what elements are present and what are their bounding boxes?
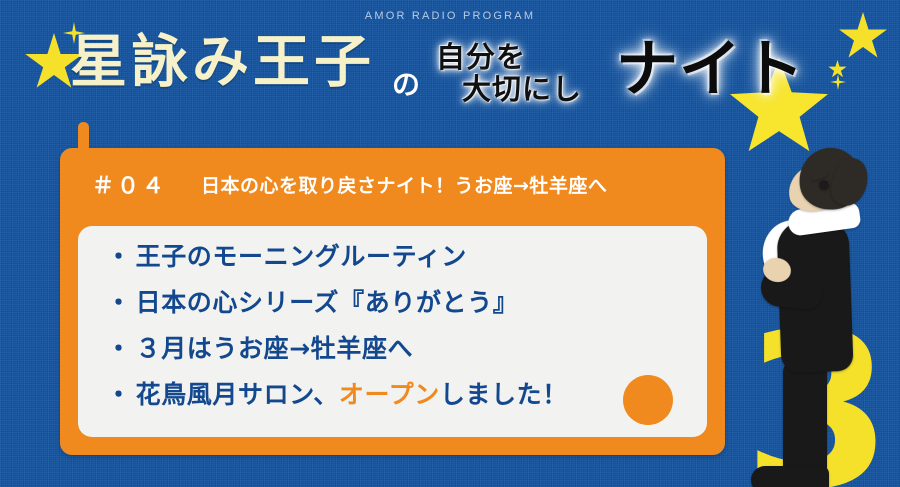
character-shoe (751, 466, 829, 487)
list-item-tail: しました！ (440, 382, 568, 407)
list-item: ・ ３月はうお座→牡羊座へ (106, 336, 687, 361)
title-night: ナイト (616, 38, 805, 100)
episode-title: 日本の心を取り戻さナイト！うお座→牡羊座へ (201, 171, 607, 198)
star-top-right-small-icon (828, 60, 847, 79)
list-item-text: ３月はうお座→牡羊座へ (136, 336, 414, 361)
bullet-marker: ・ (106, 290, 132, 315)
bullet-marker: ・ (106, 244, 132, 269)
subtitle-line-2: 大切にし (462, 66, 582, 108)
episode-card: ＃０４ 日本の心を取り戻さナイト！うお座→牡羊座へ ・ 王子のモーニングルーティ… (60, 148, 725, 455)
poster-canvas: AMOR RADIO PROGRAM 星詠み王子 の 自分を 大切にし ナイト … (0, 0, 900, 487)
episode-header: ＃０４ 日本の心を取り戻さナイト！うお座→牡羊座へ (60, 148, 725, 220)
bullet-marker: ・ (106, 336, 132, 361)
title-connector: の (392, 63, 420, 103)
list-item-text: 日本の心シリーズ『ありがとう』 (136, 290, 519, 315)
character-eye (819, 180, 829, 190)
topics-list: ・ 王子のモーニングルーティン ・ 日本の心シリーズ『ありがとう』 ・ ３月はう… (106, 244, 687, 428)
show-title: 星詠み王子 (70, 34, 375, 91)
host-illustration: 3 (735, 128, 900, 487)
topics-panel: ・ 王子のモーニングルーティン ・ 日本の心シリーズ『ありがとう』 ・ ３月はう… (78, 226, 707, 437)
bullet-marker: ・ (106, 382, 132, 407)
list-item: ・ 王子のモーニングルーティン (106, 244, 687, 269)
list-item: ・ 花鳥風月サロン、 オープン しました！ (106, 382, 687, 407)
program-eyebrow: AMOR RADIO PROGRAM (0, 10, 900, 22)
list-item-text: 花鳥風月サロン、 (136, 382, 339, 407)
list-item: ・ 日本の心シリーズ『ありがとう』 (106, 290, 687, 315)
list-item-text: 王子のモーニングルーティン (136, 244, 467, 269)
list-item-highlight: オープン (339, 382, 440, 407)
episode-number: ＃０４ (92, 168, 167, 200)
